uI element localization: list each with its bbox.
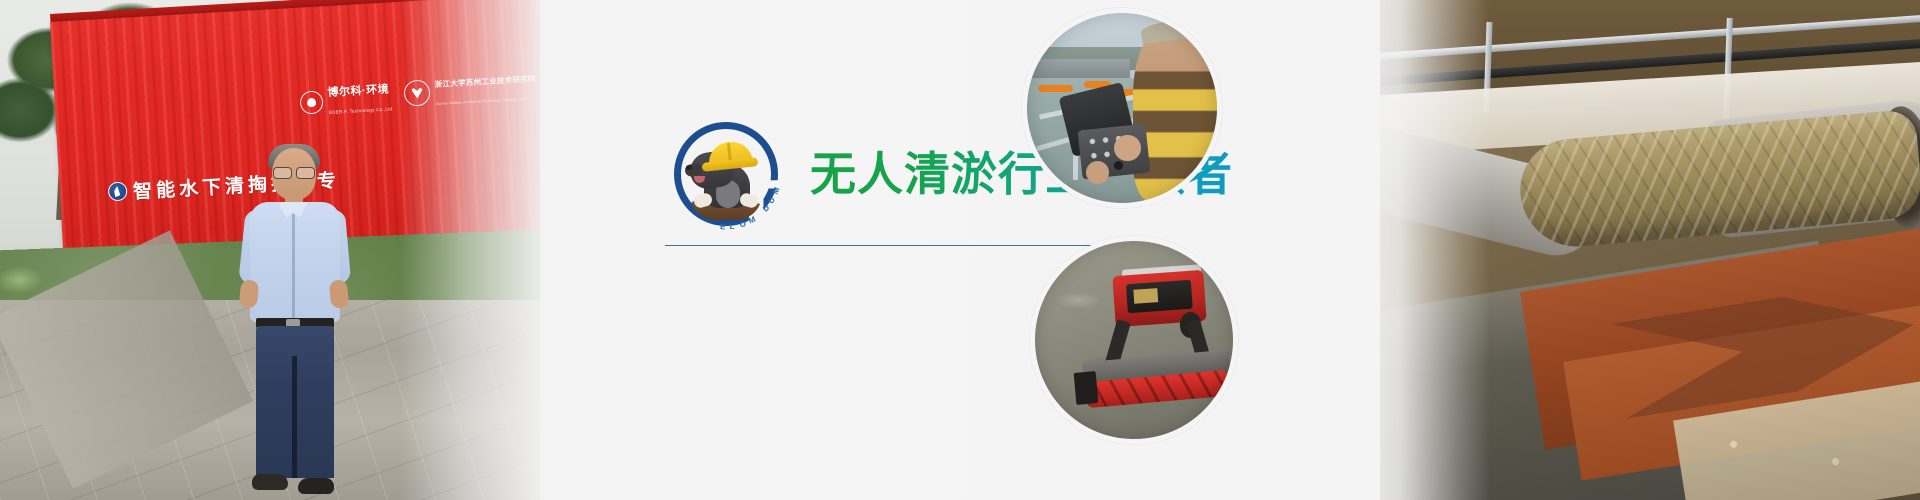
- container-brand-block: 博尔科·环境 BOER.P. Technology Co.,Ltd: [327, 79, 393, 119]
- container-brand-cn: 博尔科·环境: [327, 84, 389, 100]
- hero-banner: 博尔科·环境 BOER.P. Technology Co.,Ltd 浙江大学苏州…: [0, 0, 1920, 500]
- logo-curved-char: M: [747, 215, 757, 226]
- left-photo: 博尔科·环境 BOER.P. Technology Co.,Ltd 浙江大学苏州…: [0, 0, 540, 500]
- logo-curved-char: L: [729, 222, 734, 231]
- person-right-shoe: [298, 478, 334, 494]
- slogan-badge-icon: [108, 181, 128, 201]
- left-photo-fade: [400, 0, 540, 500]
- person-jeans: [256, 326, 334, 478]
- circle-vignette: [1035, 241, 1233, 439]
- circle-photo-dredging-robot: [1030, 236, 1238, 444]
- mud-mole-logo: MUD MOLE: [674, 122, 778, 226]
- person-left-shoe: [252, 474, 288, 490]
- logo-curved-char: U: [766, 195, 777, 205]
- logo-curved-char: O: [739, 219, 747, 229]
- container-brand-logo: 博尔科·环境 BOER.P. Technology Co.,Ltd: [299, 79, 393, 120]
- photo-person: [238, 148, 358, 500]
- circle-photo-operator: [1022, 8, 1222, 208]
- logo-curved-text: MUD MOLE: [674, 122, 778, 226]
- person-shirt-placket: [292, 214, 295, 320]
- right-photo-fade: [1340, 0, 1490, 500]
- person-right-hand: [329, 279, 349, 308]
- container-brand-en: BOER.P. Technology Co.,Ltd: [329, 106, 393, 115]
- brand-seal-icon: [299, 90, 323, 114]
- circle-vignette: [1027, 13, 1217, 203]
- logo-curved-char: D: [761, 203, 772, 214]
- logo-curved-char: M: [771, 185, 782, 195]
- person-shirt: [250, 202, 340, 322]
- logo-curved-char: E: [719, 222, 726, 232]
- person-glasses: [273, 167, 315, 177]
